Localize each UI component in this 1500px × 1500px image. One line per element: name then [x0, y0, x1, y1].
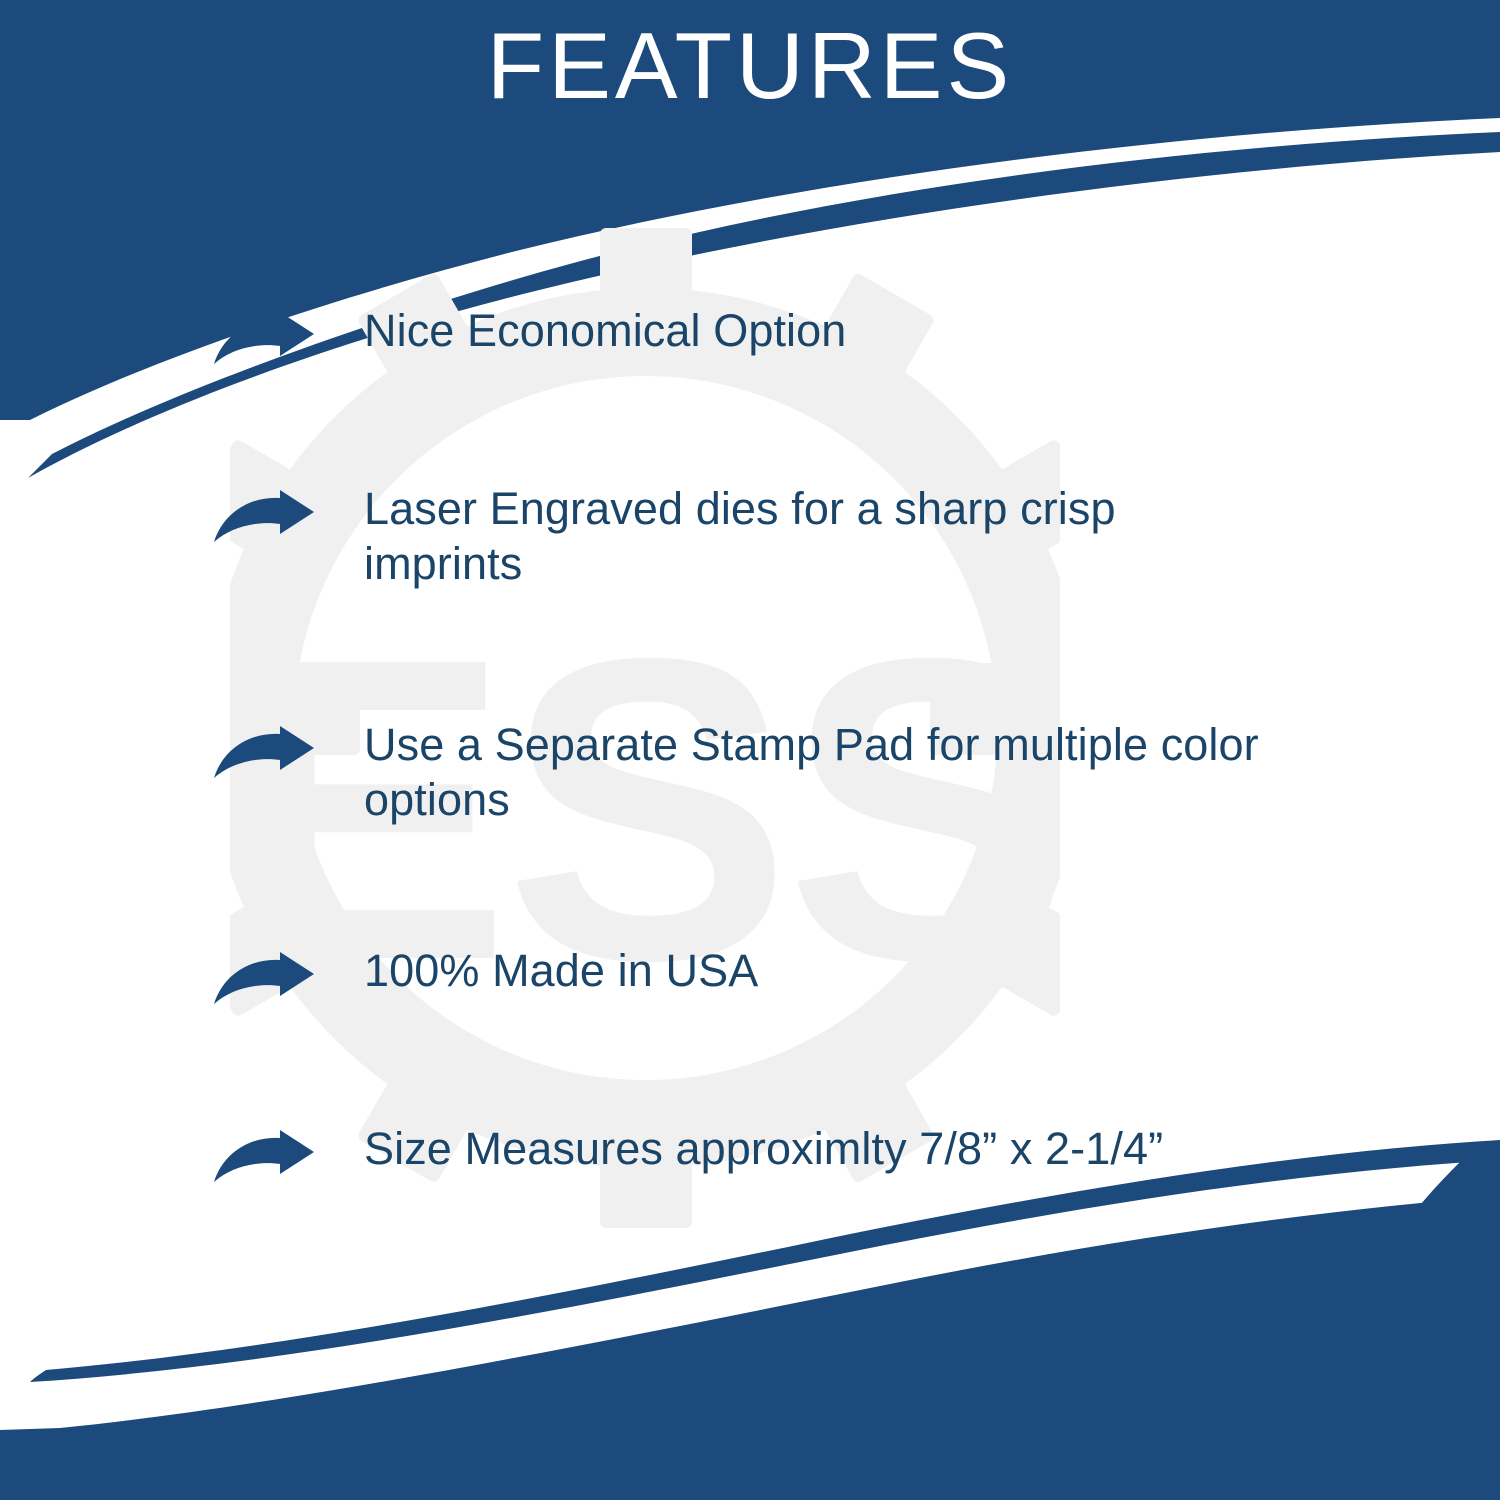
curved-arrow-right-icon	[214, 1122, 322, 1188]
list-item: Size Measures approximlty 7/8” x 2-1/4”	[0, 1122, 1163, 1188]
list-item-label: Nice Economical Option	[322, 304, 846, 359]
curved-arrow-right-icon	[214, 304, 322, 370]
list-item: Nice Economical Option	[0, 304, 846, 370]
list-item-label: Laser Engraved dies for a sharp crisp im…	[322, 482, 1242, 592]
list-item: Use a Separate Stamp Pad for multiple co…	[0, 718, 1412, 828]
list-item-label: Size Measures approximlty 7/8” x 2-1/4”	[322, 1122, 1163, 1177]
list-item-label: 100% Made in USA	[322, 944, 758, 999]
curved-arrow-right-icon	[214, 718, 322, 784]
features-banner: ESS FEATURES Nice Economical Option Lase…	[0, 0, 1500, 1500]
title-bar: FEATURES	[0, 0, 1500, 140]
list-item-label: Use a Separate Stamp Pad for multiple co…	[322, 718, 1412, 828]
list-item: Laser Engraved dies for a sharp crisp im…	[0, 482, 1242, 592]
curved-arrow-right-icon	[214, 482, 322, 548]
curved-arrow-right-icon	[214, 944, 322, 1010]
list-item: 100% Made in USA	[0, 944, 758, 1010]
page-title: FEATURES	[487, 19, 1013, 113]
